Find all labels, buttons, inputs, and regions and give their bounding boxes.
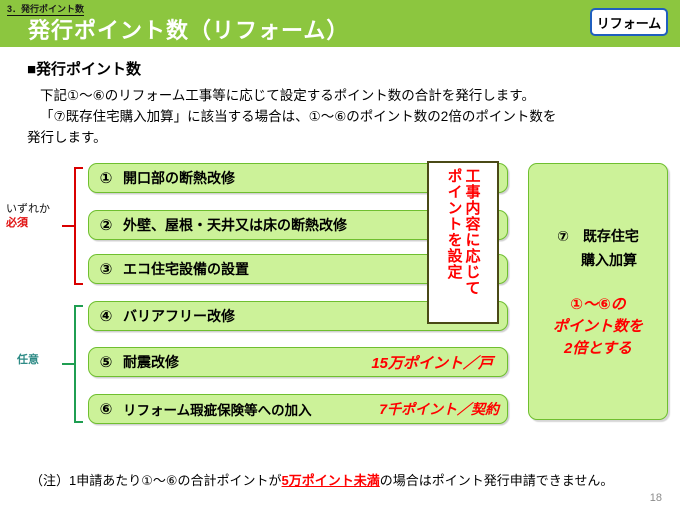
- callout-line-2: ポイントを設定: [446, 168, 463, 280]
- bracket-required-tick-top: [74, 167, 83, 169]
- panel7-title-line1: ⑦ 既存住宅: [557, 224, 639, 248]
- panel7-title-line2: 購入加算: [557, 248, 639, 272]
- item-number: ①: [89, 169, 123, 187]
- label-required-line1: いずれか: [6, 202, 50, 216]
- label-optional: 任意: [17, 353, 39, 367]
- label-required-line2: 必須: [6, 216, 50, 230]
- item-number: ⑤: [89, 353, 123, 371]
- panel7-red-line2: ポイント数を: [553, 316, 643, 338]
- intro-paragraph: 下記①～⑥のリフォーム工事等に応じて設定するポイント数の合計を発行します。 「⑦…: [27, 85, 657, 148]
- page-title: 発行ポイント数（リフォーム）: [28, 13, 349, 45]
- category-badge: リフォーム: [590, 8, 668, 36]
- panel-existing-home-bonus: ⑦ 既存住宅 購入加算 ①～⑥の ポイント数を 2倍とする: [528, 163, 668, 420]
- bracket-required-arm: [62, 225, 75, 227]
- footer-note-highlight: 5万ポイント未満: [282, 473, 380, 488]
- label-required: いずれか 必須: [6, 202, 50, 230]
- intro-line-2: 「⑦既存住宅購入加算」に該当する場合は、①～⑥のポイント数の2倍のポイント数を: [27, 106, 657, 127]
- item-number: ⑥: [89, 400, 123, 418]
- callout-line-1: 工事内容に応じて: [464, 168, 481, 296]
- section-heading: ■発行ポイント数: [27, 58, 141, 79]
- bracket-optional: [62, 305, 76, 423]
- list-item: ⑤ 耐震改修 15万ポイント／戸: [88, 347, 508, 377]
- item-label: 耐震改修: [123, 352, 179, 372]
- panel7-red-line3: 2倍とする: [553, 338, 643, 360]
- footer-note: （注）1申請あたり①～⑥の合計ポイントが5万ポイント未満の場合はポイント発行申請…: [30, 470, 613, 489]
- item-label: 開口部の断熱改修: [123, 168, 235, 188]
- callout-vertical-box: 工事内容に応じて ポイントを設定: [427, 161, 499, 324]
- page-number: 18: [650, 492, 662, 504]
- bracket-required: [62, 167, 76, 285]
- item-label: リフォーム瑕疵保険等への加入: [123, 399, 312, 419]
- bracket-optional-tick-top: [74, 305, 83, 307]
- panel7-title: ⑦ 既存住宅 購入加算: [557, 224, 639, 272]
- footer-note-pre: （注）1申請あたり①～⑥の合計ポイントが: [30, 473, 282, 488]
- item-label: エコ住宅設備の設置: [123, 259, 249, 279]
- intro-line-1: 下記①～⑥のリフォーム工事等に応じて設定するポイント数の合計を発行します。: [27, 85, 657, 106]
- item-points: 15万ポイント／戸: [371, 352, 493, 373]
- bracket-required-tick-bottom: [74, 283, 83, 285]
- panel7-red-line1: ①～⑥の: [553, 294, 643, 316]
- item-points: 7千ポイント／契約: [379, 399, 499, 419]
- item-number: ②: [89, 216, 123, 234]
- item-label: 外壁、屋根・天井又は床の断熱改修: [123, 215, 347, 235]
- list-item: ⑥ リフォーム瑕疵保険等への加入 7千ポイント／契約: [88, 394, 508, 424]
- item-number: ④: [89, 307, 123, 325]
- item-label: バリアフリー改修: [123, 306, 235, 326]
- footer-note-post: の場合はポイント発行申請できません。: [380, 473, 614, 488]
- panel7-red-text: ①～⑥の ポイント数を 2倍とする: [553, 294, 643, 360]
- item-number: ③: [89, 260, 123, 278]
- intro-line-3: 発行します。: [27, 127, 657, 148]
- bracket-optional-tick-bottom: [74, 421, 83, 423]
- bracket-optional-arm: [62, 363, 75, 365]
